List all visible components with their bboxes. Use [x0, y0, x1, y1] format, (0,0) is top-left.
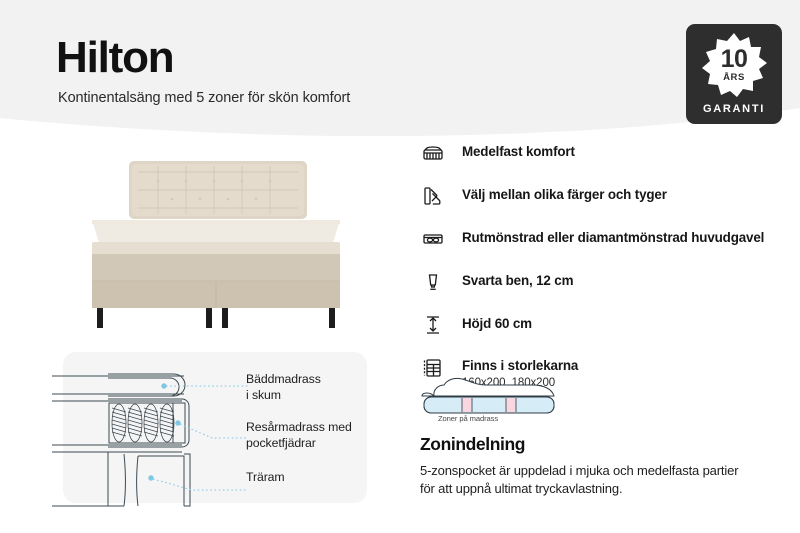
bed-leg-icon	[420, 269, 446, 295]
feature-label: Svarta ben, 12 cm	[462, 273, 573, 288]
callout-label: Träram	[246, 470, 285, 486]
height-arrow-icon	[420, 312, 446, 338]
warranty-badge: 10 ÅRS GARANTI	[686, 24, 782, 124]
callout-label: Bäddmadrass i skum	[246, 372, 321, 403]
mattress-firmness-icon	[420, 140, 446, 166]
feature-label: Medelfast komfort	[462, 144, 575, 159]
feature-row: Svarta ben, 12 cm	[420, 269, 790, 299]
zone-figure: Zoner på madrass	[420, 368, 570, 426]
fabric-swatch-icon	[420, 183, 446, 209]
feature-row: Välj mellan olika färger och tyger	[420, 183, 790, 213]
product-photo	[66, 150, 366, 340]
zone-heading: Zonindelning	[420, 434, 780, 455]
feature-text: Svarta ben, 12 cm	[462, 269, 573, 290]
zone-section: Zoner på madrass Zonindelning 5-zonspock…	[420, 368, 780, 499]
feature-label: Rutmönstrad eller diamantmönstrad huvudg…	[462, 230, 764, 245]
feature-label: Välj mellan olika färger och tyger	[462, 187, 667, 202]
badge-warranty-label: GARANTI	[703, 103, 765, 115]
badge-years: 10	[721, 48, 748, 71]
starburst-icon: 10 ÅRS	[701, 32, 767, 98]
zone-body: 5-zonspocket är uppdelad i mjuka och med…	[420, 462, 750, 499]
feature-row: Höjd 60 cm	[420, 312, 790, 342]
infographic-page: Hilton Kontinentalsäng med 5 zoner för s…	[0, 0, 800, 533]
feature-list: Medelfast komfort Välj mellan olika färg…	[420, 140, 790, 393]
feature-label: Höjd 60 cm	[462, 316, 532, 331]
feature-text: Rutmönstrad eller diamantmönstrad huvudg…	[462, 226, 764, 247]
feature-text: Välj mellan olika färger och tyger	[462, 183, 667, 204]
feature-row: Medelfast komfort	[420, 140, 790, 170]
feature-row: Rutmönstrad eller diamantmönstrad huvudg…	[420, 226, 790, 256]
callout-label: Resårmadrass med pocketfjädrar	[246, 420, 352, 451]
feature-text: Medelfast komfort	[462, 140, 575, 161]
badge-unit: ÅRS	[723, 72, 745, 83]
feature-text: Höjd 60 cm	[462, 312, 532, 333]
zone-figure-caption: Zoner på madrass	[438, 414, 498, 423]
bed-cutaway-diagram	[52, 348, 412, 518]
page-subtitle: Kontinentalsäng med 5 zoner för skön kom…	[58, 90, 350, 106]
headboard-icon	[420, 226, 446, 252]
page-title: Hilton	[56, 36, 173, 80]
